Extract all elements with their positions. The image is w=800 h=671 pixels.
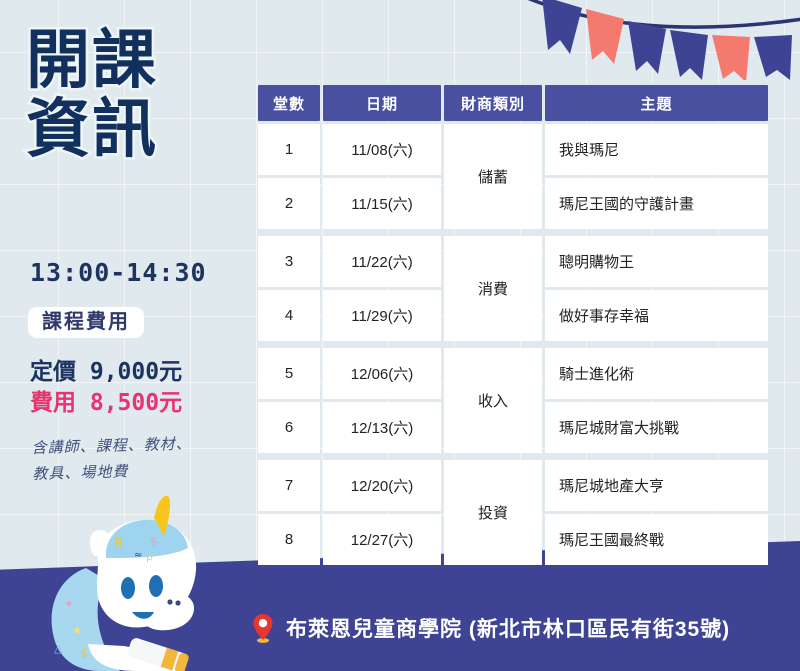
cell-date: 11/15(六) xyxy=(323,178,441,229)
svg-text:p: p xyxy=(146,550,153,563)
includes-line-2: 教具、場地費 xyxy=(32,455,248,487)
cell-session: 6 xyxy=(258,402,320,453)
class-time: 13:00-14:30 xyxy=(30,258,207,287)
group-session-dates: 7 12/20(六) 8 12/27(六) xyxy=(258,460,441,565)
group-session-dates: 5 12/06(六) 6 12/13(六) xyxy=(258,348,441,453)
bunting-flags-icon xyxy=(500,0,800,80)
column-header-category: 財商類別 xyxy=(444,85,542,121)
table-row: 4 11/29(六) xyxy=(258,290,441,341)
group-topics: 聰明購物王 做好事存幸福 xyxy=(545,236,768,341)
cell-topic: 瑪尼王國最終戰 xyxy=(545,514,768,565)
cell-session: 4 xyxy=(258,290,320,341)
cell-session: 7 xyxy=(258,460,320,511)
cell-topic: 聰明購物王 xyxy=(545,236,768,287)
table-group: 7 12/20(六) 8 12/27(六) 投資 瑪尼城地產大亨 瑪尼王國最終戰 xyxy=(258,460,768,565)
cell-category: 收入 xyxy=(444,348,542,453)
left-info-column: 開課 資訊 13:00-14:30 課程費用 定價 9,000元 費用 8,50… xyxy=(0,0,252,671)
svg-text:B: B xyxy=(114,537,123,552)
cell-date: 12/20(六) xyxy=(323,460,441,511)
cell-date: 12/13(六) xyxy=(323,402,441,453)
venue-address-text: 布萊恩兒童商學院 (新北市林口區民有街35號) xyxy=(286,613,730,643)
cell-topic: 我與瑪尼 xyxy=(545,124,768,175)
cell-session: 8 xyxy=(258,514,320,565)
schedule-table: 堂數 日期 財商類別 主題 1 11/08(六) 2 11/15(六) 儲蓄 xyxy=(258,85,768,572)
group-session-dates: 3 11/22(六) 4 11/29(六) xyxy=(258,236,441,341)
page-title: 開課 資訊 xyxy=(26,30,236,161)
svg-text:△: △ xyxy=(54,642,63,655)
table-group: 3 11/22(六) 4 11/29(六) 消費 聰明購物王 做好事存幸福 xyxy=(258,236,768,341)
column-header-topic: 主題 xyxy=(545,85,768,121)
title-line-2: 資訊 xyxy=(26,99,236,162)
table-row: 2 11/15(六) xyxy=(258,178,441,229)
cell-category: 消費 xyxy=(444,236,542,341)
cell-date: 12/27(六) xyxy=(323,514,441,565)
column-header-session: 堂數 xyxy=(258,85,320,121)
svg-text:≈: ≈ xyxy=(134,550,142,561)
group-topics: 我與瑪尼 瑪尼王國的守護計畫 xyxy=(545,124,768,229)
svg-text:$: $ xyxy=(80,647,88,661)
cell-date: 11/08(六) xyxy=(323,124,441,175)
cell-topic: 瑪尼城地產大亨 xyxy=(545,460,768,511)
cell-session: 1 xyxy=(258,124,320,175)
table-group: 5 12/06(六) 6 12/13(六) 收入 騎士進化術 瑪尼城財富大挑戰 xyxy=(258,348,768,453)
cell-topic: 瑪尼王國的守護計畫 xyxy=(545,178,768,229)
cell-topic: 瑪尼城財富大挑戰 xyxy=(545,402,768,453)
venue-address-bar: 布萊恩兒童商學院 (新北市林口區民有街35號) xyxy=(252,613,730,643)
table-row: 3 11/22(六) xyxy=(258,236,441,287)
table-row: 6 12/13(六) xyxy=(258,402,441,453)
table-row: 8 12/27(六) xyxy=(258,514,441,565)
cell-category: 投資 xyxy=(444,460,542,565)
map-pin-icon xyxy=(252,613,274,643)
cell-topic: 做好事存幸福 xyxy=(545,290,768,341)
column-header-date: 日期 xyxy=(323,85,441,121)
fee-badge: 課程費用 xyxy=(28,307,144,338)
sale-price-value: 8,500元 xyxy=(90,390,182,416)
group-session-dates: 1 11/08(六) 2 11/15(六) xyxy=(258,124,441,229)
unicorn-mascot-icon: B $ ≈ p ✦ ★ △ $ xyxy=(28,496,233,671)
cell-session: 3 xyxy=(258,236,320,287)
title-line-1: 開課 xyxy=(26,30,236,93)
table-row: 1 11/08(六) xyxy=(258,124,441,175)
cell-session: 5 xyxy=(258,348,320,399)
svg-text:✦: ✦ xyxy=(64,597,74,611)
cell-date: 11/29(六) xyxy=(323,290,441,341)
cell-session: 2 xyxy=(258,178,320,229)
cell-topic: 騎士進化術 xyxy=(545,348,768,399)
sale-price-label: 費用 xyxy=(30,390,76,416)
poster-canvas: 開課 資訊 13:00-14:30 課程費用 定價 9,000元 費用 8,50… xyxy=(0,0,800,671)
list-price-row: 定價 9,000元 xyxy=(30,357,250,388)
sale-price-row: 費用 8,500元 xyxy=(30,388,250,419)
group-topics: 騎士進化術 瑪尼城財富大挑戰 xyxy=(545,348,768,453)
list-price-label: 定價 xyxy=(30,359,76,385)
table-group: 1 11/08(六) 2 11/15(六) 儲蓄 我與瑪尼 瑪尼王國的守護計畫 xyxy=(258,124,768,229)
group-topics: 瑪尼城地產大亨 瑪尼王國最終戰 xyxy=(545,460,768,565)
cell-date: 12/06(六) xyxy=(323,348,441,399)
table-row: 5 12/06(六) xyxy=(258,348,441,399)
list-price-value: 9,000元 xyxy=(90,359,182,385)
svg-text:★: ★ xyxy=(72,623,83,637)
svg-text:$: $ xyxy=(150,535,158,549)
table-header-row: 堂數 日期 財商類別 主題 xyxy=(258,85,768,121)
table-body: 1 11/08(六) 2 11/15(六) 儲蓄 我與瑪尼 瑪尼王國的守護計畫 xyxy=(258,124,768,572)
price-list: 定價 9,000元 費用 8,500元 xyxy=(30,357,250,419)
table-row: 7 12/20(六) xyxy=(258,460,441,511)
cell-category: 儲蓄 xyxy=(444,124,542,229)
includes-note: 含講師、課程、教材、 教具、場地費 xyxy=(31,429,247,487)
cell-date: 11/22(六) xyxy=(323,236,441,287)
